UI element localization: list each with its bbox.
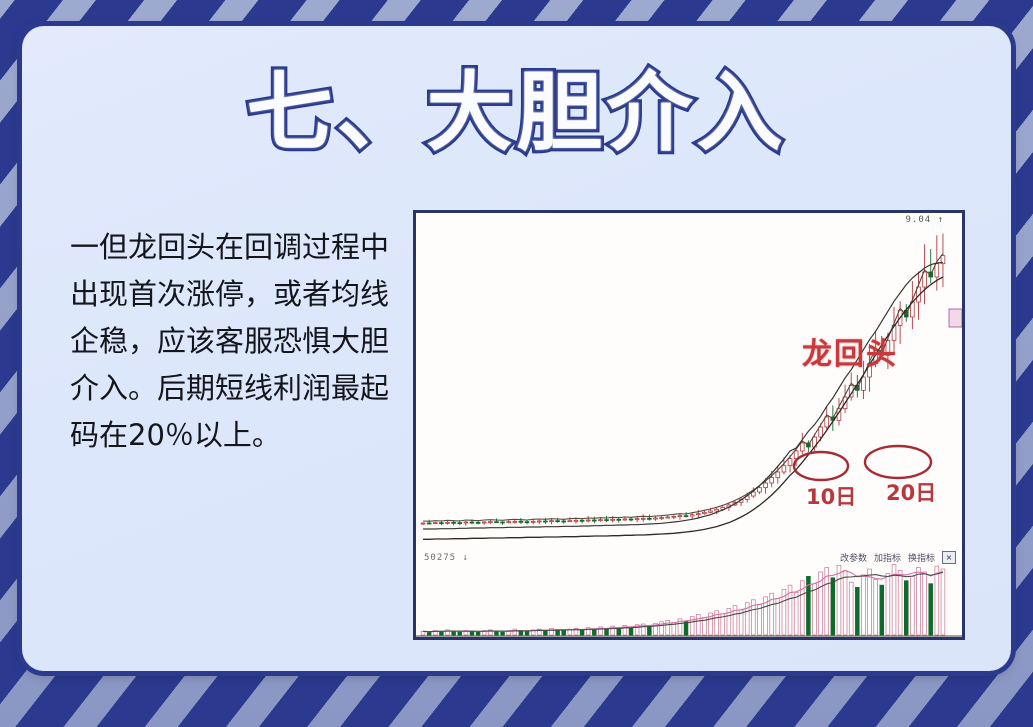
close-icon[interactable]: ×	[942, 551, 956, 564]
chart-inner: 9.04 ↑ 龙回头 10日 20日 50275 ↓ 改参数 加指标 换指标 ×	[416, 213, 962, 637]
chart-toolbar[interactable]: 改参数 加指标 换指标 ×	[840, 551, 956, 564]
switch-indicator-button[interactable]: 换指标	[908, 551, 935, 564]
slide-root: 七、大胆介入 一但龙回头在回调过程中出现首次涨停，或者均线企稳，应该客服恐惧大胆…	[0, 0, 1033, 727]
price-tag-marker	[949, 309, 962, 327]
page-title-container: 七、大胆介入	[22, 68, 1011, 158]
ma10-annotation-label: 10日	[806, 481, 856, 511]
stock-chart-window[interactable]: 9.04 ↑ 龙回头 10日 20日 50275 ↓ 改参数 加指标 换指标 ×	[413, 210, 965, 640]
volume-readout: 50275 ↓	[424, 553, 469, 563]
ma20-annotation-label: 20日	[886, 477, 936, 507]
add-indicator-button[interactable]: 加指标	[874, 551, 901, 564]
price-panel-chart	[416, 213, 962, 545]
body-paragraph: 一但龙回头在回调过程中出现首次涨停，或者均线企稳，应该客服恐惧大胆介入。后期短线…	[70, 224, 410, 459]
page-title: 七、大胆介入	[247, 68, 787, 158]
dragon-pullback-annotation: 龙回头	[802, 329, 898, 373]
price-quote-readout: 9.04 ↑	[905, 215, 944, 225]
content-card: 七、大胆介入 一但龙回头在回调过程中出现首次涨停，或者均线企稳，应该客服恐惧大胆…	[22, 26, 1011, 671]
change-params-button[interactable]: 改参数	[840, 551, 867, 564]
